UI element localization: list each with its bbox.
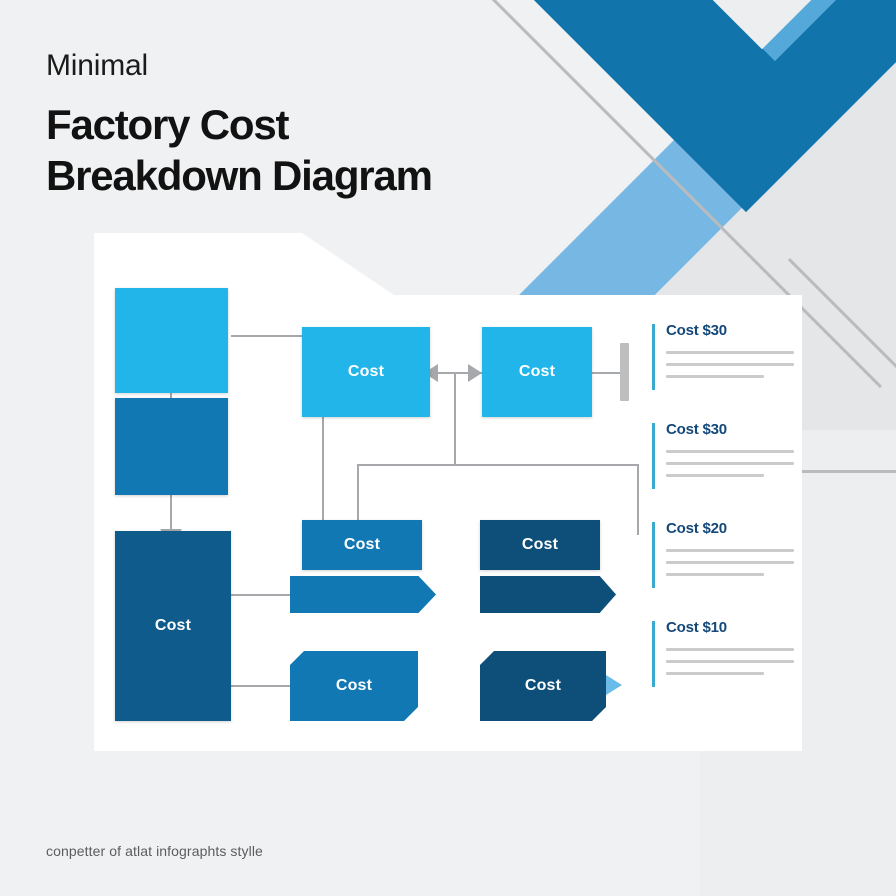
flow-node-label: Cost: [525, 677, 561, 695]
flow-node-n5[interactable]: Cost: [482, 327, 592, 417]
legend-item[interactable]: Cost $30: [652, 322, 792, 393]
flow-node-n9[interactable]: [480, 576, 616, 613]
footer-caption: conpetter of atlat infographts stylle: [46, 843, 263, 859]
legend-accent-bar: [652, 324, 655, 390]
connector-bracket-right: [637, 464, 639, 535]
legend-accent-bar: [652, 522, 655, 588]
legend-placeholder-line: [666, 672, 764, 675]
legend-accent-bar: [652, 423, 655, 489]
legend-placeholder-line: [666, 573, 764, 576]
flow-node-label: Cost: [336, 677, 372, 695]
flow-node-n4[interactable]: Cost: [302, 327, 430, 417]
legend-placeholder-line: [666, 561, 794, 564]
flow-node-n1[interactable]: [115, 288, 228, 393]
header-block: Minimal Factory Cost Breakdown Diagram: [46, 46, 606, 201]
legend-accent-bar: [652, 621, 655, 687]
flow-node-n11[interactable]: Cost: [480, 651, 606, 721]
legend-item[interactable]: Cost $20: [652, 520, 792, 591]
flow-node-label: Cost: [155, 617, 191, 635]
flow-node-label: Cost: [348, 363, 384, 381]
legend-placeholder-line: [666, 549, 794, 552]
diagonal-line-3: [800, 470, 896, 473]
accent-triangle-icon: [606, 675, 622, 695]
flow-node-label: Cost: [519, 363, 555, 381]
flow-node-n10[interactable]: Cost: [290, 651, 418, 721]
legend-item[interactable]: Cost $10: [652, 619, 792, 690]
page-title: Factory Cost Breakdown Diagram: [46, 99, 606, 201]
legend-panel: Cost $30 Cost $30 Cost $20 Cost $10: [652, 322, 792, 718]
legend-item-title: Cost $10: [666, 619, 792, 636]
flow-node-n8[interactable]: [290, 576, 436, 613]
flow-node-n2[interactable]: [115, 398, 228, 495]
legend-item-title: Cost $30: [666, 322, 792, 339]
legend-placeholder-line: [666, 363, 794, 366]
legend-placeholder-line: [666, 660, 794, 663]
legend-placeholder-line: [666, 375, 764, 378]
flow-node-n3[interactable]: Cost: [115, 531, 231, 721]
legend-item[interactable]: Cost $30: [652, 421, 792, 492]
connector-n5-stub: [592, 372, 622, 374]
legend-item-title: Cost $20: [666, 520, 792, 537]
terminator-bar: [620, 343, 629, 401]
connector-trunk-vertical: [454, 372, 456, 464]
legend-placeholder-line: [666, 351, 794, 354]
legend-placeholder-line: [666, 474, 764, 477]
legend-placeholder-line: [666, 648, 794, 651]
legend-item-title: Cost $30: [666, 421, 792, 438]
legend-placeholder-line: [666, 462, 794, 465]
arrowhead-right-n5: [468, 364, 482, 382]
connector-bracket-horizontal: [357, 464, 638, 466]
flow-node-n7[interactable]: Cost: [480, 520, 600, 570]
page-kicker: Minimal: [46, 46, 606, 85]
legend-placeholder-line: [666, 450, 794, 453]
flow-node-label: Cost: [344, 536, 380, 554]
flow-node-n6[interactable]: Cost: [302, 520, 422, 570]
poster-canvas: Minimal Factory Cost Breakdown Diagram: [0, 0, 896, 896]
flow-node-label: Cost: [522, 536, 558, 554]
